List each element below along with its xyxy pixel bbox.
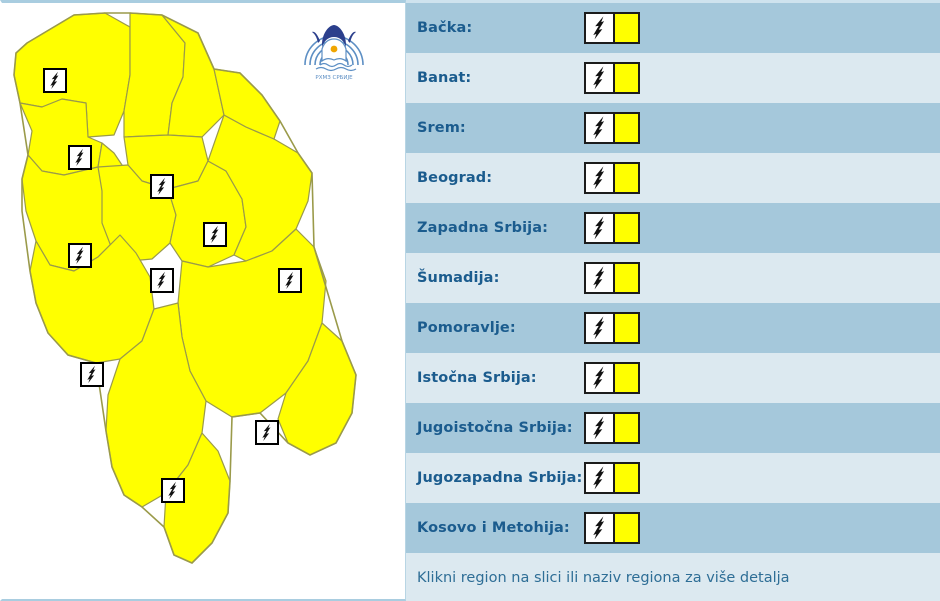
region-label[interactable]: Kosovo i Metohija: xyxy=(406,520,576,536)
thunderstorm-icon xyxy=(586,64,615,92)
thunderstorm-icon xyxy=(586,114,615,142)
lightning-bolt-glyph xyxy=(586,514,613,542)
lightning-bolt-glyph xyxy=(45,70,65,91)
warning-legend-panel: Bačka:Banat:Srem:Beograd:Zapadna Srbija:… xyxy=(406,0,940,601)
warning-symbol-cell xyxy=(576,12,640,44)
map-marker-thunderstorm-icon[interactable] xyxy=(68,243,92,268)
lightning-bolt-glyph xyxy=(70,245,90,266)
thunderstorm-icon xyxy=(586,364,615,392)
region-row[interactable]: Srem: xyxy=(406,103,940,153)
lightning-bolt-glyph xyxy=(586,464,613,492)
region-row[interactable]: Istočna Srbija: xyxy=(406,353,940,403)
region-row[interactable]: Kosovo i Metohija: xyxy=(406,503,940,553)
warning-symbol[interactable] xyxy=(584,462,640,494)
lightning-bolt-glyph xyxy=(586,64,613,92)
warning-symbol-cell xyxy=(576,512,640,544)
lightning-bolt-glyph xyxy=(152,176,172,197)
map-marker-thunderstorm-icon[interactable] xyxy=(43,68,67,93)
warning-symbol-cell xyxy=(576,112,640,144)
lightning-bolt-glyph xyxy=(586,14,613,42)
weather-warning-page: РХМЗ СРБИЈЕ Bačka:Banat:Srem:Beograd:Zap… xyxy=(0,0,940,601)
map-panel: РХМЗ СРБИЈЕ xyxy=(0,0,406,601)
lightning-bolt-glyph xyxy=(586,214,613,242)
lightning-bolt-glyph xyxy=(280,270,300,291)
lightning-bolt-glyph xyxy=(163,480,183,501)
region-list: Bačka:Banat:Srem:Beograd:Zapadna Srbija:… xyxy=(406,3,940,553)
thunderstorm-icon xyxy=(586,414,615,442)
region-label[interactable]: Beograd: xyxy=(406,170,576,186)
lightning-bolt-glyph xyxy=(257,422,277,443)
lightning-bolt-glyph xyxy=(152,270,172,291)
warning-symbol[interactable] xyxy=(584,12,640,44)
lightning-bolt-glyph xyxy=(586,114,613,142)
thunderstorm-icon xyxy=(586,264,615,292)
warning-symbol[interactable] xyxy=(584,362,640,394)
warning-symbol[interactable] xyxy=(584,312,640,344)
lightning-bolt-glyph xyxy=(586,164,613,192)
warning-symbol-cell xyxy=(576,162,640,194)
map-marker-thunderstorm-icon[interactable] xyxy=(203,222,227,247)
region-row[interactable]: Beograd: xyxy=(406,153,940,203)
warning-level-swatch xyxy=(615,114,638,142)
warning-symbol[interactable] xyxy=(584,412,640,444)
warning-level-swatch xyxy=(615,314,638,342)
lightning-bolt-glyph xyxy=(586,414,613,442)
map-marker-thunderstorm-icon[interactable] xyxy=(80,362,104,387)
thunderstorm-icon xyxy=(586,14,615,42)
warning-symbol-cell xyxy=(576,362,640,394)
lightning-bolt-glyph xyxy=(205,224,225,245)
map-marker-thunderstorm-icon[interactable] xyxy=(150,268,174,293)
region-label[interactable]: Jugozapadna Srbija: xyxy=(406,470,576,486)
warning-symbol[interactable] xyxy=(584,62,640,94)
region-label[interactable]: Šumadija: xyxy=(406,270,576,286)
warning-symbol[interactable] xyxy=(584,112,640,144)
region-label[interactable]: Zapadna Srbija: xyxy=(406,220,576,236)
svg-text:РХМЗ СРБИЈЕ: РХМЗ СРБИЈЕ xyxy=(315,75,353,81)
warning-level-swatch xyxy=(615,364,638,392)
region-label[interactable]: Banat: xyxy=(406,70,576,86)
region-row[interactable]: Pomoravlje: xyxy=(406,303,940,353)
thunderstorm-icon xyxy=(586,514,615,542)
region-row[interactable]: Jugozapadna Srbija: xyxy=(406,453,940,503)
warning-level-swatch xyxy=(615,164,638,192)
warning-symbol-cell xyxy=(576,62,640,94)
warning-symbol[interactable] xyxy=(584,212,640,244)
rhmz-logo: РХМЗ СРБИЈЕ xyxy=(300,11,368,81)
warning-symbol-cell xyxy=(576,412,640,444)
region-row[interactable]: Bačka: xyxy=(406,3,940,53)
region-label[interactable]: Istočna Srbija: xyxy=(406,370,576,386)
lightning-bolt-glyph xyxy=(586,314,613,342)
warning-level-swatch xyxy=(615,414,638,442)
region-row[interactable]: Jugoistočna Srbija: xyxy=(406,403,940,453)
lightning-bolt-glyph xyxy=(586,364,613,392)
warning-level-swatch xyxy=(615,64,638,92)
warning-symbol-cell xyxy=(576,262,640,294)
lightning-bolt-glyph xyxy=(82,364,102,385)
region-label[interactable]: Srem: xyxy=(406,120,576,136)
region-row[interactable]: Šumadija: xyxy=(406,253,940,303)
map-marker-thunderstorm-icon[interactable] xyxy=(161,478,185,503)
thunderstorm-icon xyxy=(586,214,615,242)
warning-symbol[interactable] xyxy=(584,162,640,194)
region-label[interactable]: Pomoravlje: xyxy=(406,320,576,336)
warning-symbol-cell xyxy=(576,462,640,494)
thunderstorm-icon xyxy=(586,464,615,492)
map-marker-thunderstorm-icon[interactable] xyxy=(255,420,279,445)
map-marker-thunderstorm-icon[interactable] xyxy=(278,268,302,293)
region-label[interactable]: Bačka: xyxy=(406,20,576,36)
region-row[interactable]: Zapadna Srbija: xyxy=(406,203,940,253)
warning-symbol-cell xyxy=(576,212,640,244)
warning-symbol-cell xyxy=(576,312,640,344)
map-marker-thunderstorm-icon[interactable] xyxy=(68,145,92,170)
warning-level-swatch xyxy=(615,264,638,292)
warning-level-swatch xyxy=(615,14,638,42)
legend-footer: Klikni region na slici ili naziv regiona… xyxy=(406,553,940,601)
footer-hint-text: Klikni region na slici ili naziv regiona… xyxy=(417,570,790,586)
warning-symbol[interactable] xyxy=(584,512,640,544)
warning-level-swatch xyxy=(615,214,638,242)
lightning-bolt-glyph xyxy=(70,147,90,168)
region-label[interactable]: Jugoistočna Srbija: xyxy=(406,420,576,436)
warning-level-swatch xyxy=(615,464,638,492)
thunderstorm-icon xyxy=(586,164,615,192)
region-row[interactable]: Banat: xyxy=(406,53,940,103)
warning-symbol[interactable] xyxy=(584,262,640,294)
map-marker-thunderstorm-icon[interactable] xyxy=(150,174,174,199)
lightning-bolt-glyph xyxy=(586,264,613,292)
thunderstorm-icon xyxy=(586,314,615,342)
warning-level-swatch xyxy=(615,514,638,542)
